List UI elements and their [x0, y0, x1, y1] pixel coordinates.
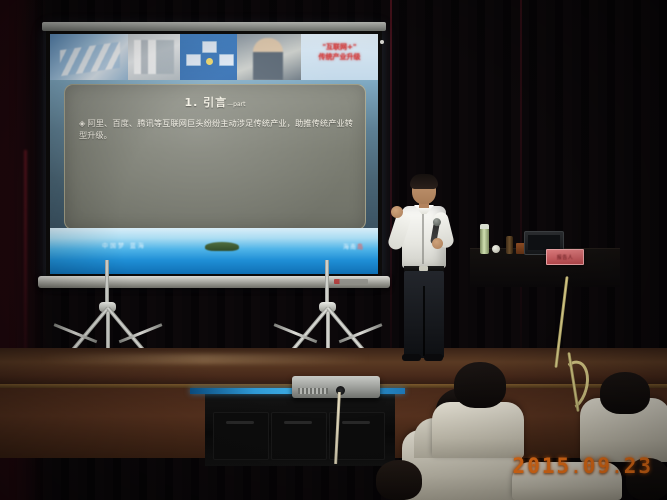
name-placard: 报告人	[546, 249, 584, 265]
bottle	[506, 236, 513, 254]
presenter-shoe	[402, 354, 421, 361]
screen-corner-dot	[380, 40, 384, 44]
date-month: 09	[583, 454, 612, 478]
presenter	[392, 176, 454, 360]
name-placard-text: 报告人	[547, 250, 583, 264]
presenter-shoe	[424, 354, 443, 361]
presenter-belt	[404, 266, 444, 271]
audience-seat	[432, 402, 524, 458]
podium-handle	[342, 421, 370, 424]
thermos-flask	[480, 228, 489, 254]
presentation-slide: "互联网+" 传统产业升级 1. 引言—part ◈阿里、百度、腾讯等互联网巨头…	[50, 34, 378, 274]
audience-head	[600, 372, 650, 414]
screen-brand-logo	[334, 279, 368, 284]
date-day: 23	[624, 454, 653, 478]
trouser-seam	[423, 286, 425, 356]
laptop-screen	[528, 235, 560, 250]
presenter-right-hand	[432, 238, 443, 249]
belt-buckle	[419, 266, 428, 271]
presenter-left-hand	[391, 206, 403, 218]
date-year: 2015	[513, 454, 572, 478]
podium-door	[213, 412, 269, 460]
date-separator: .	[612, 458, 624, 477]
tripod-leg	[69, 307, 109, 354]
screen-bottom-bar	[38, 276, 390, 288]
screen-top-bar	[42, 22, 386, 31]
projector-vent	[298, 388, 328, 394]
audience-head	[376, 460, 422, 500]
podium-handle	[226, 421, 254, 424]
cup	[492, 245, 500, 253]
tripod-pole	[105, 260, 109, 304]
floor-light-reflection	[40, 354, 370, 364]
tripod-leg	[289, 307, 329, 354]
podium-door	[271, 412, 327, 460]
curtain-edge-highlight	[24, 150, 27, 380]
date-separator: .	[571, 458, 583, 477]
camera-date-stamp: 2015.09.23	[513, 454, 653, 478]
curtain-seam	[520, 0, 522, 360]
photo-scene: "互联网+" 传统产业升级 1. 引言—part ◈阿里、百度、腾讯等互联网巨头…	[0, 0, 667, 500]
audience-head	[454, 362, 506, 408]
presenter-hair	[410, 174, 438, 189]
podium-handle	[284, 421, 312, 424]
projector-glow	[50, 34, 378, 274]
tripod-pole	[325, 260, 329, 304]
thermos-cap	[480, 224, 489, 229]
stage-podium	[205, 392, 395, 466]
projection-screen: "互联网+" 传统产业升级 1. 引言—part ◈阿里、百度、腾讯等互联网巨头…	[46, 28, 382, 280]
video-projector	[292, 376, 380, 398]
shirt-placket	[422, 208, 424, 264]
